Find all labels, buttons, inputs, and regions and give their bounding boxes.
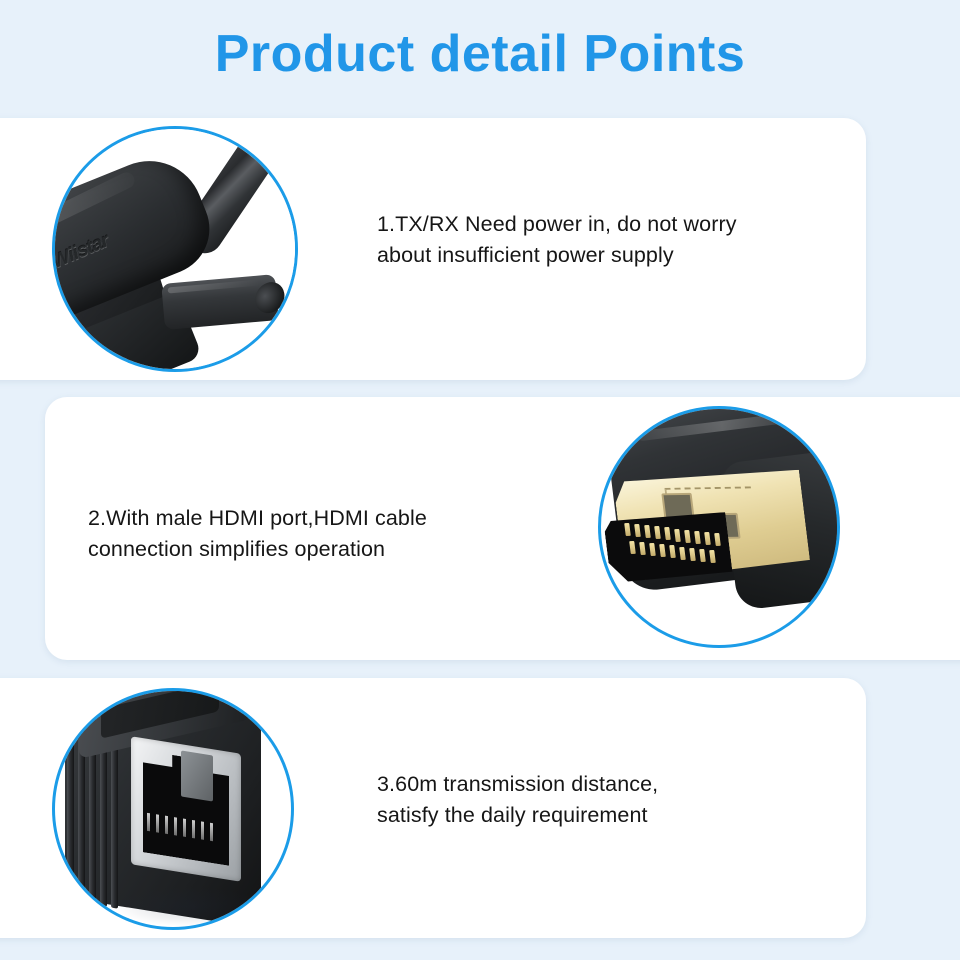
hdmi-pin (694, 531, 701, 544)
rj45-ethernet-port-photo (52, 688, 294, 930)
hdmi-pin (659, 544, 666, 557)
photo-1-content: Wiistar (55, 129, 295, 369)
rj45-contact-pin (210, 823, 213, 841)
hdmi-pin (624, 523, 631, 536)
hdmi-pin (704, 532, 711, 545)
rj45-drop-shadow (115, 887, 265, 927)
hdmi-pin (674, 529, 681, 542)
rj45-latch-slot (181, 750, 213, 801)
hdmi-pin (654, 526, 661, 539)
hdmi-pin (699, 549, 706, 562)
feature-caption-1: 1.TX/RX Need power in, do not worry abou… (377, 209, 847, 270)
rj45-contact-pin (192, 820, 195, 838)
hdmi-pin (714, 533, 721, 546)
hdmi-pin (629, 541, 636, 554)
hdmi-male-connector-photo (598, 406, 840, 648)
hdmi-pin (679, 547, 686, 560)
rj45-contact-pin (147, 813, 150, 831)
rj45-contact-pin (174, 817, 177, 835)
product-detail-page: Product detail Points Wiistar 1.TX/RX Ne… (0, 0, 960, 960)
photo-3-content (55, 691, 291, 927)
hdmi-pin-row (601, 409, 837, 645)
micro-usb-port-highlight (168, 279, 260, 293)
hdmi-pin (649, 543, 656, 556)
rj45-contact-pin (201, 821, 204, 839)
rj45-contact-pin (156, 814, 159, 832)
hdmi-pin (689, 548, 696, 561)
hdmi-pin (664, 527, 671, 540)
rj45-housing-ridge (67, 711, 74, 902)
hdmi-pin (644, 525, 651, 538)
rj45-contact-pin (165, 816, 168, 834)
hdmi-pin (634, 524, 641, 537)
hdmi-pin (669, 545, 676, 558)
hdmi-pin (709, 550, 716, 563)
feature-caption-3: 3.60m transmission distance, satisfy the… (377, 769, 807, 830)
wiistar-extender-body-photo: Wiistar (52, 126, 298, 372)
rj45-contact-pin (183, 819, 186, 837)
hdmi-pin (684, 530, 691, 543)
feature-caption-2: 2.With male HDMI port,HDMI cable connect… (88, 503, 538, 564)
photo-2-content (601, 409, 837, 645)
page-title: Product detail Points (0, 26, 960, 83)
hdmi-pin (639, 542, 646, 555)
